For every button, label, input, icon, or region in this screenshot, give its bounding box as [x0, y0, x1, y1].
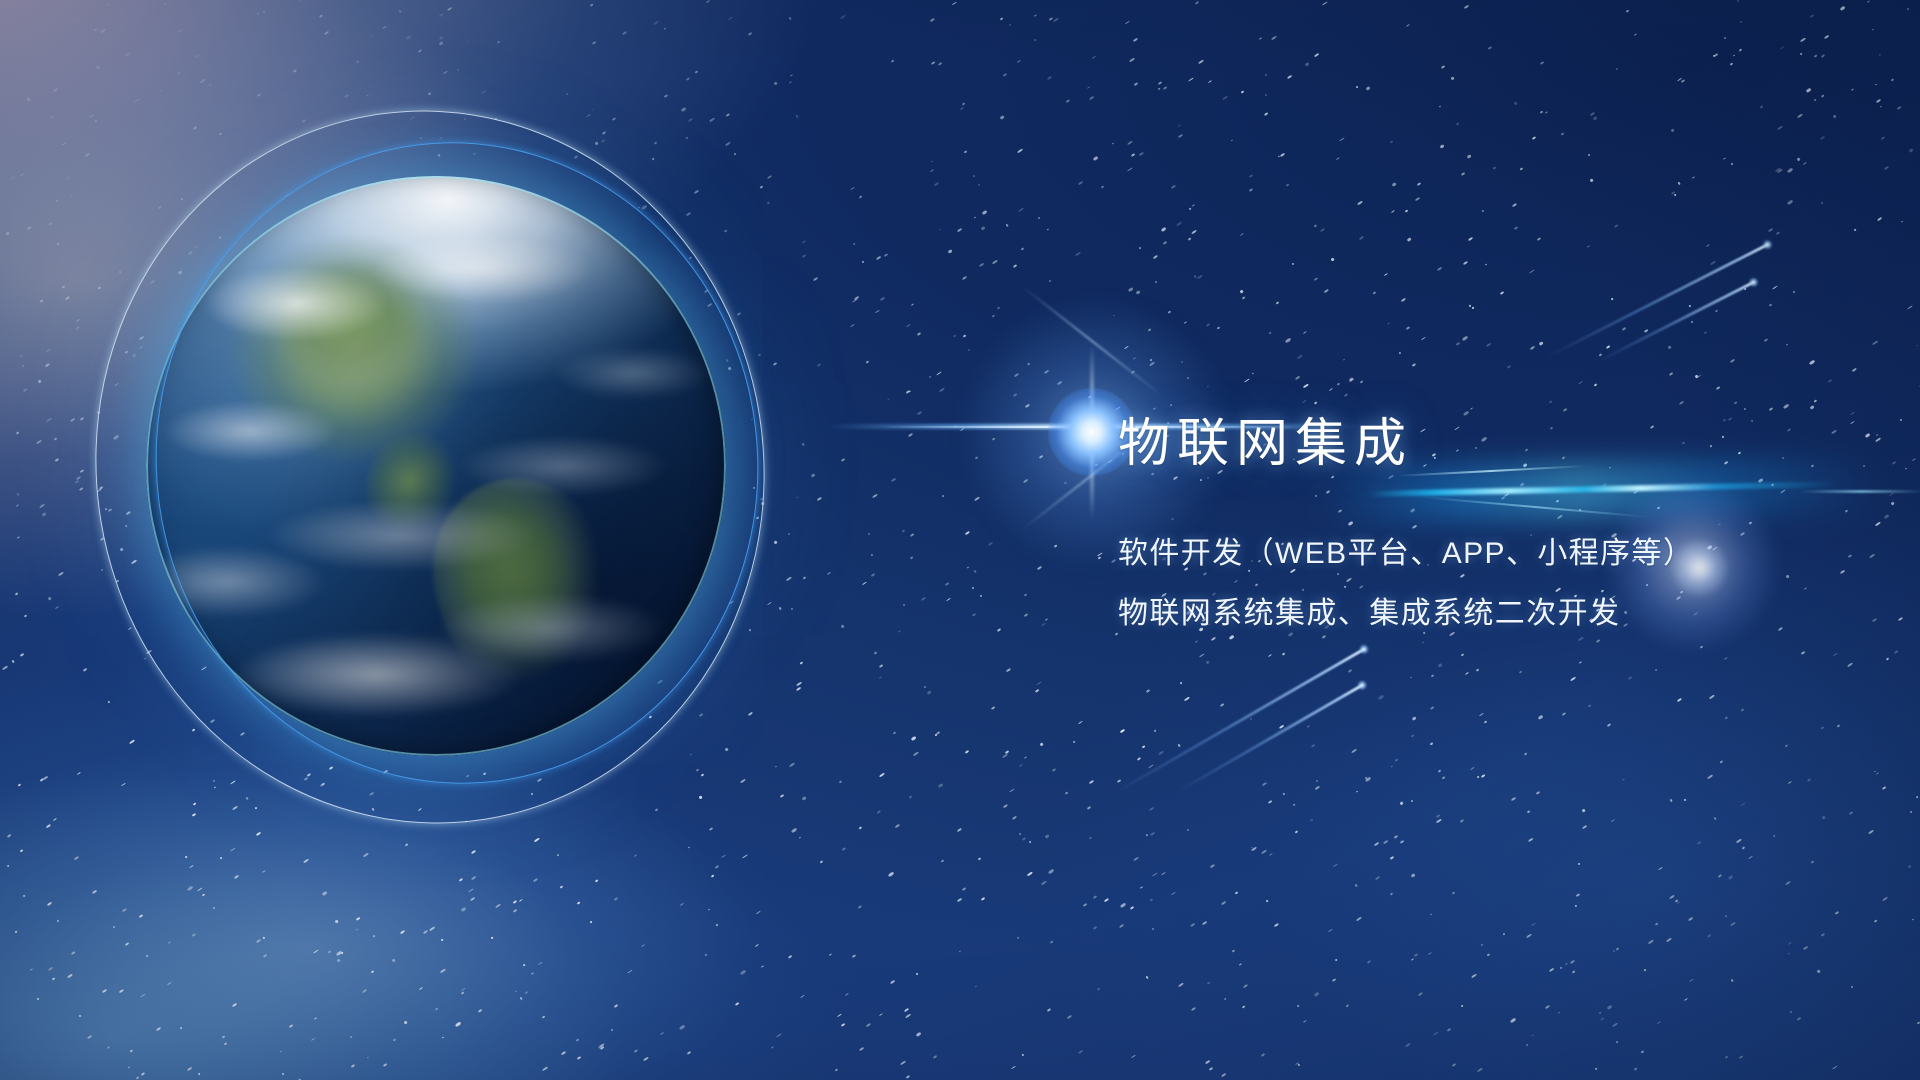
globe-limb-light [146, 176, 726, 756]
subtitle-line-2: 物联网系统集成、集成系统二次开发 [1118, 599, 1694, 629]
globe-sphere [146, 176, 726, 756]
headline-flare-diag-1 [1020, 285, 1163, 397]
subtitle-line-1: 软件开发（WEB平台、APP、小程序等） [1118, 539, 1694, 569]
meteor-upper-right-2 [1597, 280, 1755, 362]
meteor-lower-center [1113, 647, 1365, 794]
meteor-upper-right [1545, 243, 1769, 359]
cyan-streak-right [1800, 490, 1920, 493]
headline-flare-vbar [1090, 344, 1094, 520]
hero-text-block: 物联网集成 软件开发（WEB平台、APP、小程序等） 物联网系统集成、集成系统二… [1118, 418, 1694, 629]
hero-banner: 物联网集成 软件开发（WEB平台、APP、小程序等） 物联网系统集成、集成系统二… [0, 0, 1920, 1080]
earth-globe [146, 176, 726, 756]
page-title: 物联网集成 [1118, 418, 1694, 470]
